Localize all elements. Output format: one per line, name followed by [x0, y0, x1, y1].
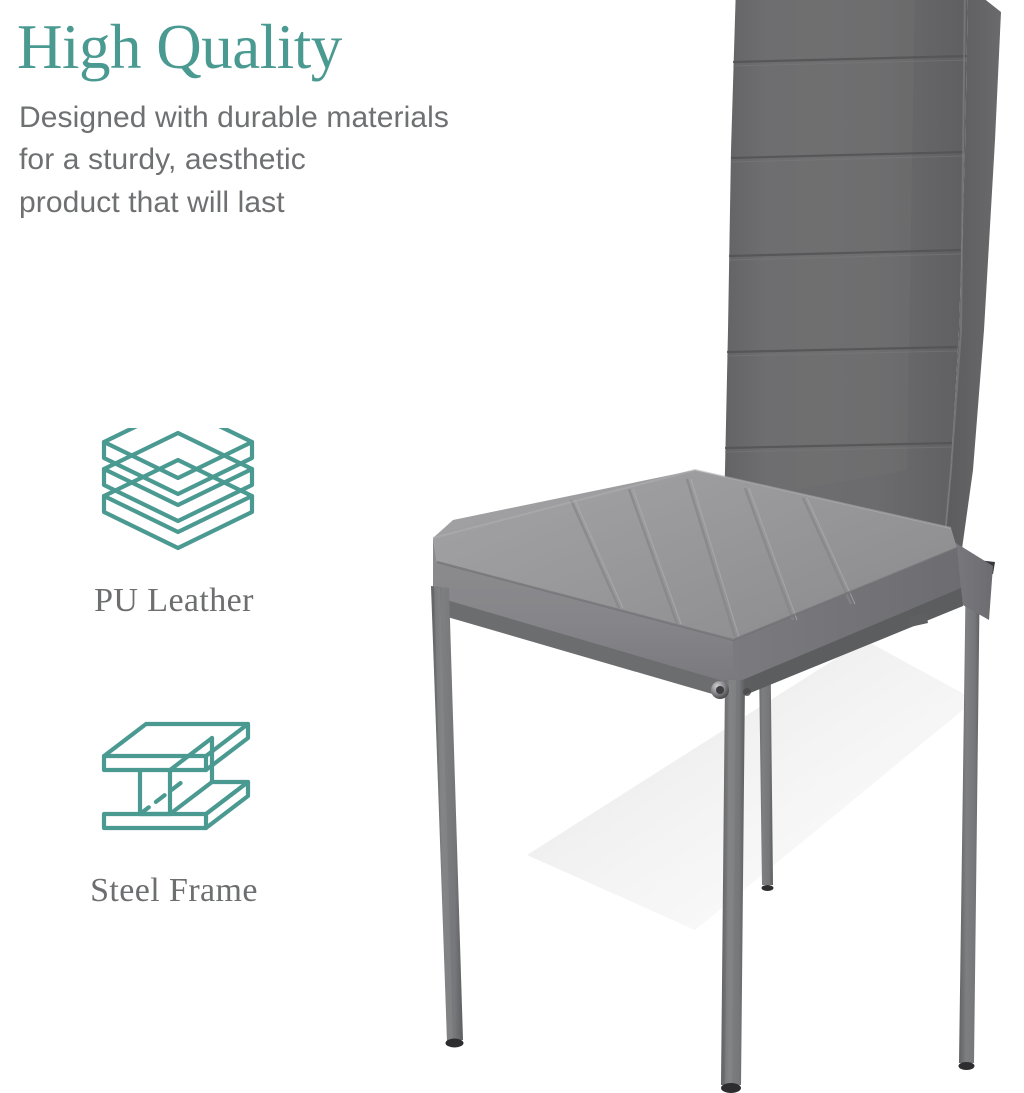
feature-label-steel-frame: Steel Frame — [0, 872, 348, 910]
feature-label-pu-leather: PU Leather — [0, 582, 348, 620]
chair-leg-front-left — [431, 586, 464, 1048]
feature-list: PU Leather — [0, 420, 360, 1000]
chair-leg-back-right — [959, 560, 981, 1070]
i-beam-icon — [98, 718, 258, 848]
chair-leg-front-right — [721, 680, 745, 1093]
product-image-chair — [395, 0, 1024, 1093]
layers-stack-icon — [98, 428, 258, 558]
product-feature-panel: High Quality Designed with durable mater… — [0, 0, 1024, 1093]
chair-illustration — [395, 0, 1024, 1093]
feature-item-pu-leather: PU Leather — [0, 420, 360, 710]
feature-item-steel-frame: Steel Frame — [0, 710, 360, 1000]
